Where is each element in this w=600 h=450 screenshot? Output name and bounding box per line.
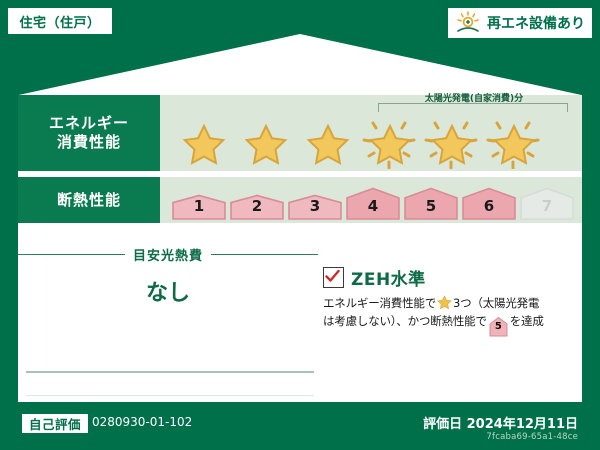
star-icon: [367, 123, 413, 167]
utility-cost-heading: 目安光熱費: [18, 245, 318, 263]
zeh-desc-part3: を達成: [510, 314, 544, 328]
zeh-desc-star-count: 3つ（太陽光発電: [453, 296, 539, 310]
star-icon: [181, 123, 227, 167]
utility-cost-heading-text: 目安光熱費: [133, 245, 203, 264]
star-solar: [484, 115, 542, 169]
energy-performance-row: エネルギー 消費性能 太陽光発電(自家消費)分: [18, 95, 582, 171]
insulation-performance-body: 1234567: [160, 177, 582, 223]
grade-number: 7: [542, 197, 552, 220]
insulation-grade-4: 4: [346, 187, 400, 220]
certificate-id: 0280930-01-102: [92, 415, 192, 429]
star-base: [236, 115, 294, 169]
insulation-grade-2: 2: [230, 194, 284, 220]
zeh-description: エネルギー消費性能で 3つ（太陽光発電 は考慮しない）、かつ断熱性能で 5を達成: [323, 295, 578, 333]
grade-number: 6: [484, 197, 494, 220]
cost-divider-secondary: [26, 395, 314, 396]
zeh-standard-block: ZEH水準 エネルギー消費性能で 3つ（太陽光発電 は考慮しない）、かつ断熱性能…: [323, 265, 578, 333]
zeh-title: ZEH水準: [351, 265, 426, 290]
heading-rule-left: [18, 254, 125, 255]
star-solar: [422, 115, 480, 169]
insulation-grade-7: 7: [520, 187, 574, 220]
energy-performance-body: 太陽光発電(自家消費)分: [160, 95, 582, 171]
check-icon: [325, 269, 340, 284]
evaluation-date: 評価日 2024年12月11日: [423, 413, 578, 432]
inline-grade-value: 5: [489, 316, 508, 337]
grade-number: 3: [310, 197, 320, 220]
insulation-label-text: 断熱性能: [57, 191, 121, 210]
inline-grade-badge: 5: [489, 316, 508, 333]
insulation-grade-5: 5: [404, 187, 458, 220]
star-icon: [491, 123, 537, 167]
solar-annotation-bracket: [378, 103, 568, 112]
self-evaluation-badge: 自己評価: [22, 414, 88, 433]
utility-cost-value: なし: [18, 275, 318, 307]
zeh-heading: ZEH水準: [323, 265, 578, 290]
title-subtitle: 建築物省エネ法に基づく: [231, 52, 370, 69]
zeh-desc-part2: は考慮しない）、かつ断熱性能で: [323, 314, 487, 328]
star-base: [298, 115, 356, 169]
star-solar: [360, 115, 418, 169]
energy-label-line1: エネルギー: [49, 114, 129, 133]
insulation-grade-6: 6: [462, 187, 516, 220]
grade-number: 5: [426, 197, 436, 220]
panel-content: エネルギー 消費性能 太陽光発電(自家消費)分 断熱性能 1234567 目安光…: [18, 95, 582, 402]
star-icon: [243, 123, 289, 167]
label-root: 住宅（住戸） 再エネ設備あり 建築物省エネ法に基づく 省エネ性能ラベル: [0, 0, 600, 450]
star-icon: [305, 123, 351, 167]
heading-rule-right: [211, 254, 318, 255]
insulation-grade-3: 3: [288, 194, 342, 220]
cost-divider-primary: [26, 371, 314, 373]
grade-number: 1: [194, 197, 204, 220]
star-rating: [160, 113, 582, 169]
insulation-grade-scale: 1234567: [172, 180, 572, 220]
insulation-grade-1: 1: [172, 194, 226, 220]
star-icon: [429, 123, 475, 167]
star-base: [174, 115, 232, 169]
insulation-performance-label: 断熱性能: [18, 177, 160, 223]
inline-star-icon: [437, 295, 452, 310]
page-title: 省エネ性能ラベル: [208, 71, 392, 94]
grade-number: 4: [368, 197, 378, 220]
zeh-desc-part1: エネルギー消費性能で: [323, 296, 436, 310]
energy-label-line2: 消費性能: [57, 133, 121, 152]
zeh-checkbox[interactable]: [323, 267, 344, 288]
title-block: 建築物省エネ法に基づく 省エネ性能ラベル: [0, 28, 600, 94]
energy-performance-label: エネルギー 消費性能: [18, 95, 160, 171]
insulation-performance-row: 断熱性能 1234567: [18, 177, 582, 223]
footer-bar: 自己評価 0280930-01-102 評価日 2024年12月11日 7fca…: [0, 402, 600, 450]
document-hash: 7fcaba69-65a1-48ce: [486, 432, 578, 442]
self-evaluation-label: 自己評価: [29, 414, 81, 433]
grade-number: 2: [252, 197, 262, 220]
